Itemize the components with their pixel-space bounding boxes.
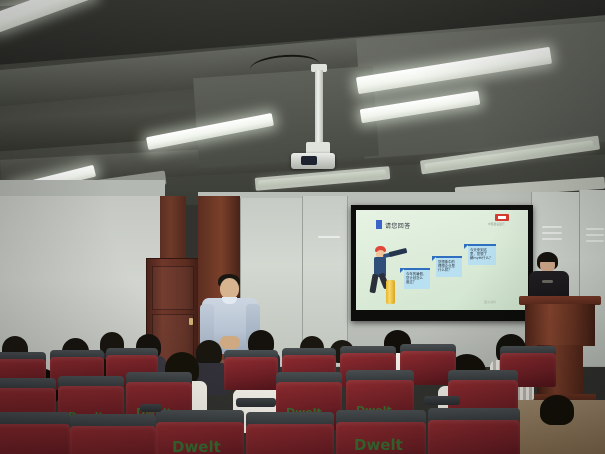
seat-armrest-3 <box>140 404 162 412</box>
seat-armrest-1 <box>236 398 276 407</box>
projector-lens <box>301 156 317 165</box>
wall-vent-slat-7 <box>586 240 604 242</box>
slide-bubble-3-text: 今天来到这 里，您想了 解myth什么？ <box>470 248 492 261</box>
seat-back <box>0 424 70 454</box>
door-panel-upper <box>152 266 194 310</box>
slide-logo: 中国建设银行 <box>486 214 522 226</box>
left-wall-upper <box>0 180 165 196</box>
podium-body <box>525 304 595 346</box>
seat-back <box>224 357 278 390</box>
ceiling-soffit-mid <box>193 66 379 168</box>
seat-back <box>428 420 520 454</box>
lecture-hall-photo: 请您回答 中国建设银行 今年的暑假， 您计划怎么 度过？ 您想象中的 理想企业是… <box>0 0 605 454</box>
speaker-hands <box>220 336 240 349</box>
presenter-necklace <box>542 280 553 283</box>
logo-mark-inner <box>498 216 506 219</box>
slide-bubble-1: 今年的暑假， 您计划怎么 度过？ <box>404 268 430 289</box>
seat-brand-logo: Dwelt <box>354 436 403 454</box>
projector-pole <box>315 70 323 146</box>
slide-pillar <box>386 280 395 304</box>
seat-armrest-2 <box>424 396 460 405</box>
slide-figure-leg-back <box>369 274 378 294</box>
wall-vent-slat-5 <box>586 228 604 230</box>
slide-title: 请您回答 <box>385 221 411 230</box>
logo-text: 中国建设银行 <box>488 222 505 226</box>
wall-vent-slat-4 <box>542 238 562 240</box>
seat-back <box>70 426 156 454</box>
seat-brand-logo: Dwelt <box>172 438 221 454</box>
slide-bubble-3: 今天来到这 里，您想了 解myth什么？ <box>468 244 496 265</box>
speaker-head <box>220 278 239 299</box>
slide-watermark: 图文资料 <box>484 300 496 304</box>
ceiling-soffit-right <box>356 21 605 158</box>
slide-bubble-2-text: 您想象中的 理想企业是 什么样？ <box>438 260 455 273</box>
wall-vent-slat-6 <box>586 234 604 236</box>
wall-vent-slat-3 <box>542 232 562 234</box>
seat-back <box>246 424 334 454</box>
slide-title-accent-bar <box>376 220 382 229</box>
projection-screen: 请您回答 中国建设银行 今年的暑假， 您计划怎么 度过？ 您想象中的 理想企业是… <box>356 210 528 310</box>
door-knob[interactable] <box>189 318 193 325</box>
slide-bubble-1-text: 今年的暑假， 您计划怎么 度过？ <box>406 272 426 285</box>
audience-15-head <box>540 395 574 425</box>
wall-vent-slat-2 <box>542 226 562 228</box>
slide-figure-telescope <box>389 248 408 257</box>
slide-bubble-2: 您想象中的 理想企业是 什么样？ <box>436 256 462 277</box>
wall-vent-slat-1 <box>318 236 340 238</box>
